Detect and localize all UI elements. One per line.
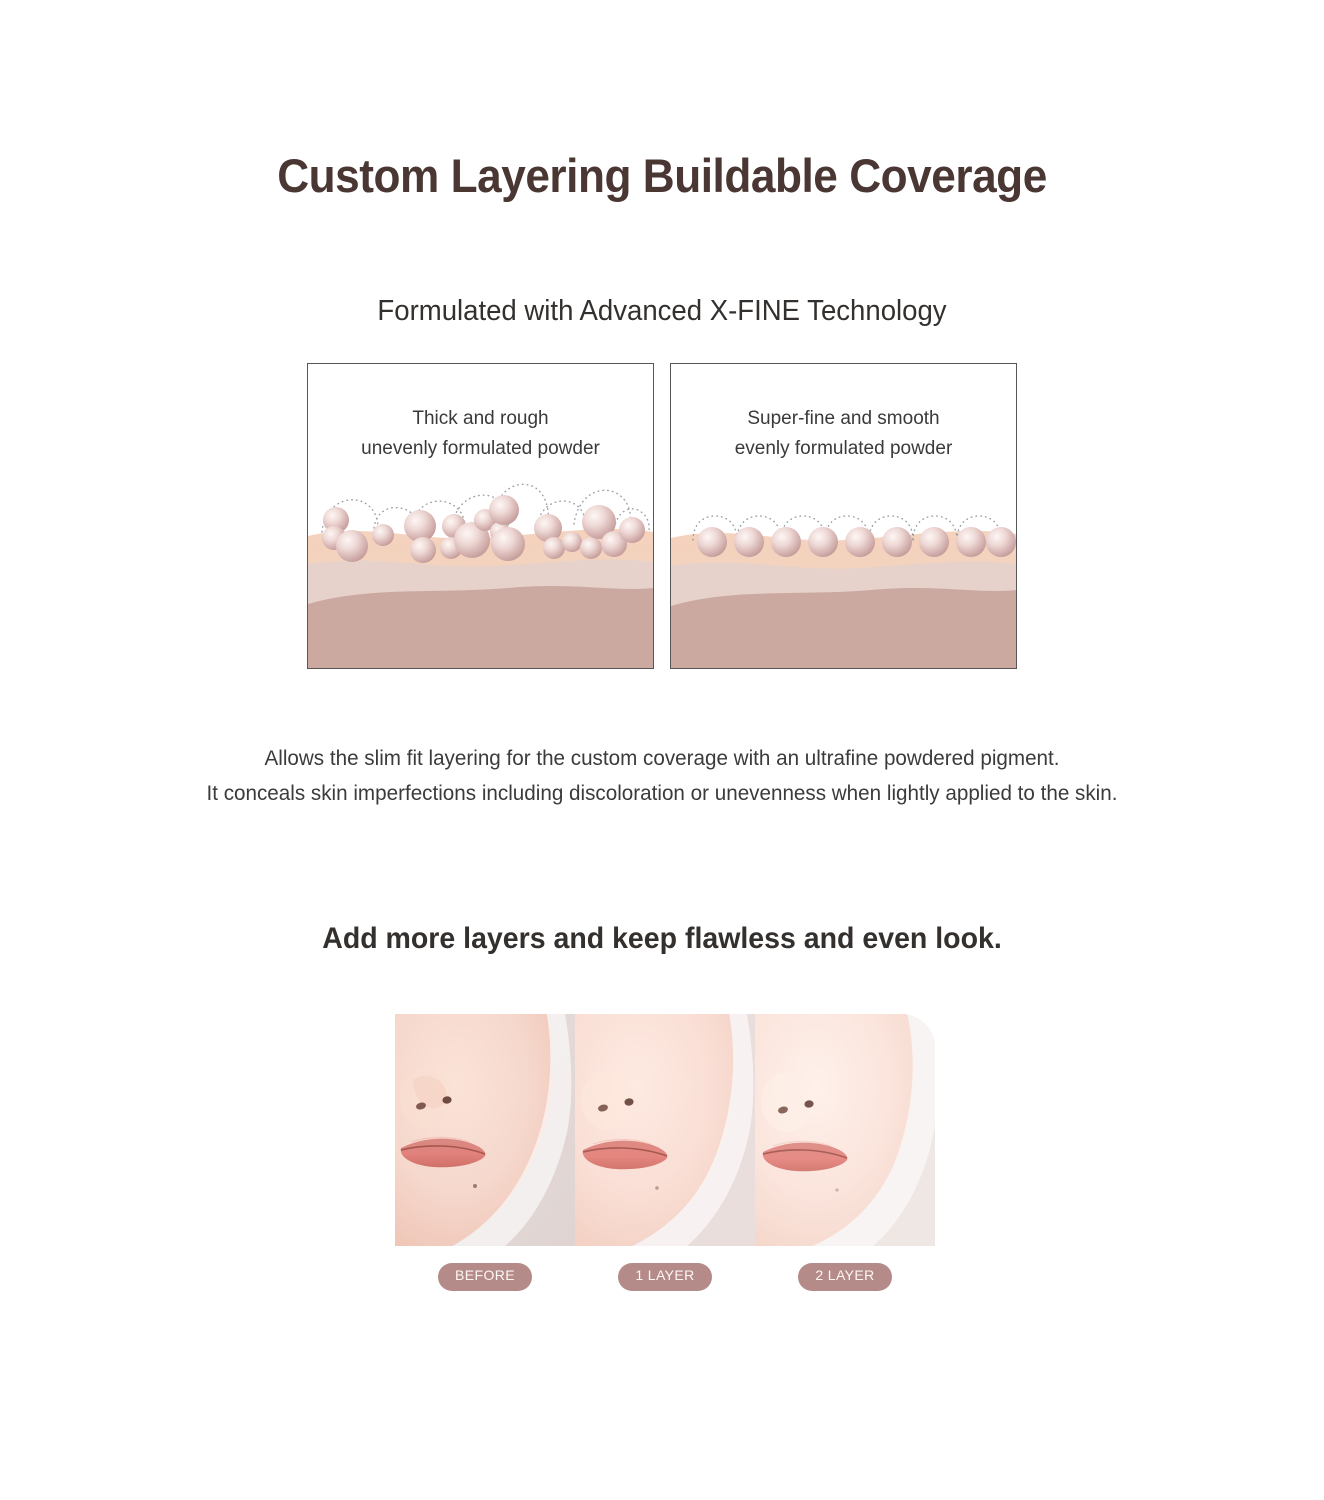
- description-line-1: Allows the slim fit layering for the cus…: [26, 741, 1297, 776]
- panel-caption-thick-rough: Thick and rough unevenly formulated powd…: [308, 404, 653, 464]
- badge-slot-before: BEFORE: [395, 1263, 575, 1291]
- uneven-powder-particles: [308, 458, 653, 578]
- face-photo-image: [755, 1014, 935, 1246]
- status-badge-before: BEFORE: [438, 1263, 532, 1291]
- powder-comparison-panels: Thick and rough unevenly formulated powd…: [307, 363, 1017, 671]
- status-badge-one-layer: 1 LAYER: [618, 1263, 711, 1291]
- page-subtitle: Formulated with Advanced X-FINE Technolo…: [33, 295, 1291, 328]
- even-powder-particles: [671, 458, 1016, 578]
- page-title: Custom Layering Buildable Coverage: [40, 148, 1285, 203]
- layering-comparison-photos: [395, 1014, 935, 1246]
- comparison-panel-thick-rough: Thick and rough unevenly formulated powd…: [307, 363, 654, 669]
- face-photo-image: [395, 1014, 575, 1246]
- panel-caption-superfine-smooth: Super-fine and smooth evenly formulated …: [671, 404, 1016, 464]
- badge-slot-one-layer: 1 LAYER: [575, 1263, 755, 1291]
- photo-labels-row: BEFORE 1 LAYER 2 LAYER: [395, 1263, 935, 1291]
- layering-section-heading: Add more layers and keep flawless and ev…: [33, 922, 1291, 956]
- status-badge-two-layer: 2 LAYER: [798, 1263, 891, 1291]
- description-line-2: It conceals skin imperfections including…: [26, 776, 1297, 811]
- photo-before: [395, 1014, 575, 1246]
- photo-one-layer: [575, 1014, 755, 1246]
- photo-two-layer: [755, 1014, 935, 1246]
- product-detail-page: { "page": { "title": "Custom Layering Bu…: [0, 0, 1324, 1500]
- badge-slot-two-layer: 2 LAYER: [755, 1263, 935, 1291]
- face-photo-image: [575, 1014, 755, 1246]
- description-paragraph: Allows the slim fit layering for the cus…: [26, 741, 1297, 811]
- comparison-panel-superfine-smooth: Super-fine and smooth evenly formulated …: [670, 363, 1017, 669]
